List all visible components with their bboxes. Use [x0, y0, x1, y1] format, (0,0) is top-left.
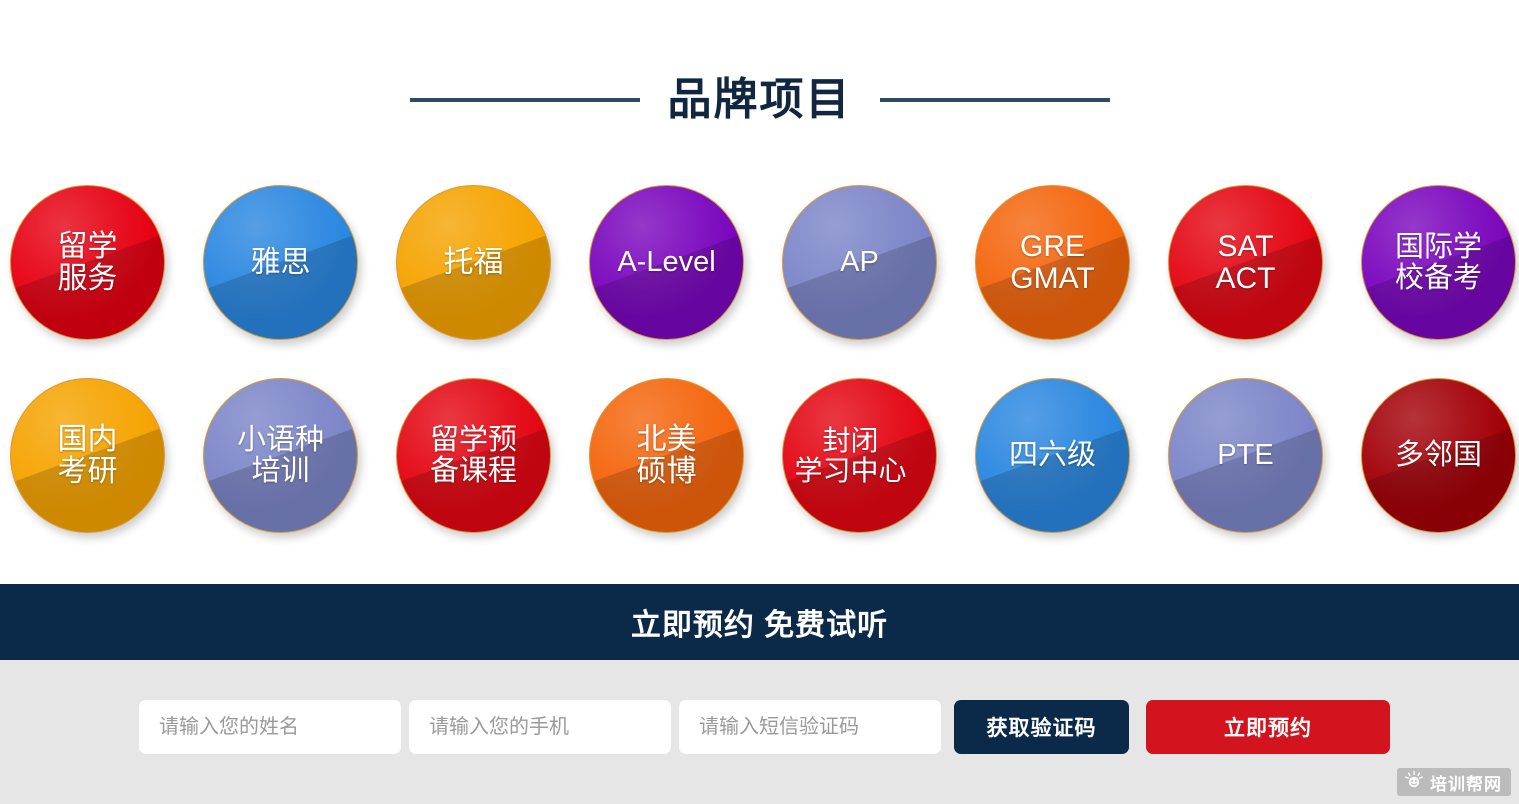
program-cell: 留学预 备课程 [396, 378, 589, 571]
page-title: 品牌项目 [668, 78, 852, 122]
phone-input[interactable] [409, 700, 671, 754]
program-bubble-liuxuefuwu[interactable]: 留学 服务 [10, 185, 165, 340]
program-label: 托福 [442, 247, 506, 279]
site-watermark: 培训帮网 [1397, 768, 1511, 796]
brand-programs-page: 品牌项目 留学 服务 雅思 托福 A-Level AP GRE GMAT SAT… [0, 0, 1519, 804]
section-title-row: 品牌项目 [0, 62, 1519, 138]
name-input[interactable] [139, 700, 401, 754]
booking-form-strip: 获取验证码 立即预约 [0, 660, 1519, 804]
program-bubble-liuxueyubei[interactable]: 留学预 备课程 [396, 378, 551, 533]
program-cell: A-Level [589, 185, 782, 378]
program-bubble-ap[interactable]: AP [782, 185, 937, 340]
program-cell: PTE [1168, 378, 1361, 571]
program-cell: 留学 服务 [10, 185, 203, 378]
program-cell: 国际学 校备考 [1361, 185, 1519, 378]
program-grid: 留学 服务 雅思 托福 A-Level AP GRE GMAT SAT ACT … [10, 185, 1519, 571]
program-cell: 多邻国 [1361, 378, 1519, 571]
program-label: 国际学 校备考 [1393, 232, 1484, 293]
program-bubble-sat-act[interactable]: SAT ACT [1168, 185, 1323, 340]
title-rule-right [880, 98, 1110, 102]
program-label: PTE [1215, 440, 1275, 471]
program-cell: SAT ACT [1168, 185, 1361, 378]
program-cell: GRE GMAT [975, 185, 1168, 378]
program-label: AP [838, 247, 881, 278]
submit-booking-button[interactable]: 立即预约 [1146, 700, 1390, 754]
program-bubble-pte[interactable]: PTE [1168, 378, 1323, 533]
get-code-button[interactable]: 获取验证码 [954, 700, 1129, 754]
program-label: 封闭 学习中心 [765, 426, 936, 485]
sms-code-input[interactable] [679, 700, 941, 754]
cta-banner-text: 立即预约 免费试听 [631, 600, 888, 644]
program-label: 留学预 备课程 [428, 425, 519, 486]
program-label: 留学 服务 [56, 231, 120, 295]
program-label: GRE GMAT [1008, 231, 1096, 295]
program-cell: 小语种 培训 [203, 378, 396, 571]
program-label: 多邻国 [1393, 440, 1484, 471]
program-bubble-alevel[interactable]: A-Level [589, 185, 744, 340]
program-cell: 托福 [396, 185, 589, 378]
program-bubble-beimeishuobo[interactable]: 北美 硕博 [589, 378, 744, 533]
program-cell: 雅思 [203, 185, 396, 378]
program-bubble-gre-gmat[interactable]: GRE GMAT [975, 185, 1130, 340]
program-bubble-fengbixuexi[interactable]: 封闭 学习中心 [782, 378, 937, 533]
program-cell: 国内 考研 [10, 378, 203, 571]
program-label: SAT ACT [1214, 231, 1278, 295]
program-bubble-tuofu[interactable]: 托福 [396, 185, 551, 340]
program-label: 国内 考研 [56, 424, 120, 488]
program-bubble-guoneikaoyan[interactable]: 国内 考研 [10, 378, 165, 533]
booking-form: 获取验证码 立即预约 [139, 700, 1390, 754]
cta-banner: 立即预约 免费试听 [0, 584, 1519, 660]
program-bubble-guojixuexiao[interactable]: 国际学 校备考 [1361, 185, 1516, 340]
program-cell: 北美 硕博 [589, 378, 782, 571]
program-cell: AP [782, 185, 975, 378]
program-label: A-Level [615, 247, 717, 278]
program-label: 四六级 [1007, 440, 1098, 471]
program-bubble-siliuji[interactable]: 四六级 [975, 378, 1130, 533]
program-bubble-yasi[interactable]: 雅思 [203, 185, 358, 340]
sun-face-icon [1404, 770, 1424, 795]
program-label: 北美 硕博 [635, 424, 699, 488]
title-rule-left [410, 98, 640, 102]
program-bubble-duolinguo[interactable]: 多邻国 [1361, 378, 1516, 533]
program-cell: 封闭 学习中心 [782, 378, 975, 571]
watermark-text: 培训帮网 [1430, 770, 1502, 795]
program-cell: 四六级 [975, 378, 1168, 571]
program-label: 雅思 [249, 247, 313, 279]
program-label: 小语种 培训 [235, 425, 326, 486]
program-bubble-xiaoyuzhong[interactable]: 小语种 培训 [203, 378, 358, 533]
